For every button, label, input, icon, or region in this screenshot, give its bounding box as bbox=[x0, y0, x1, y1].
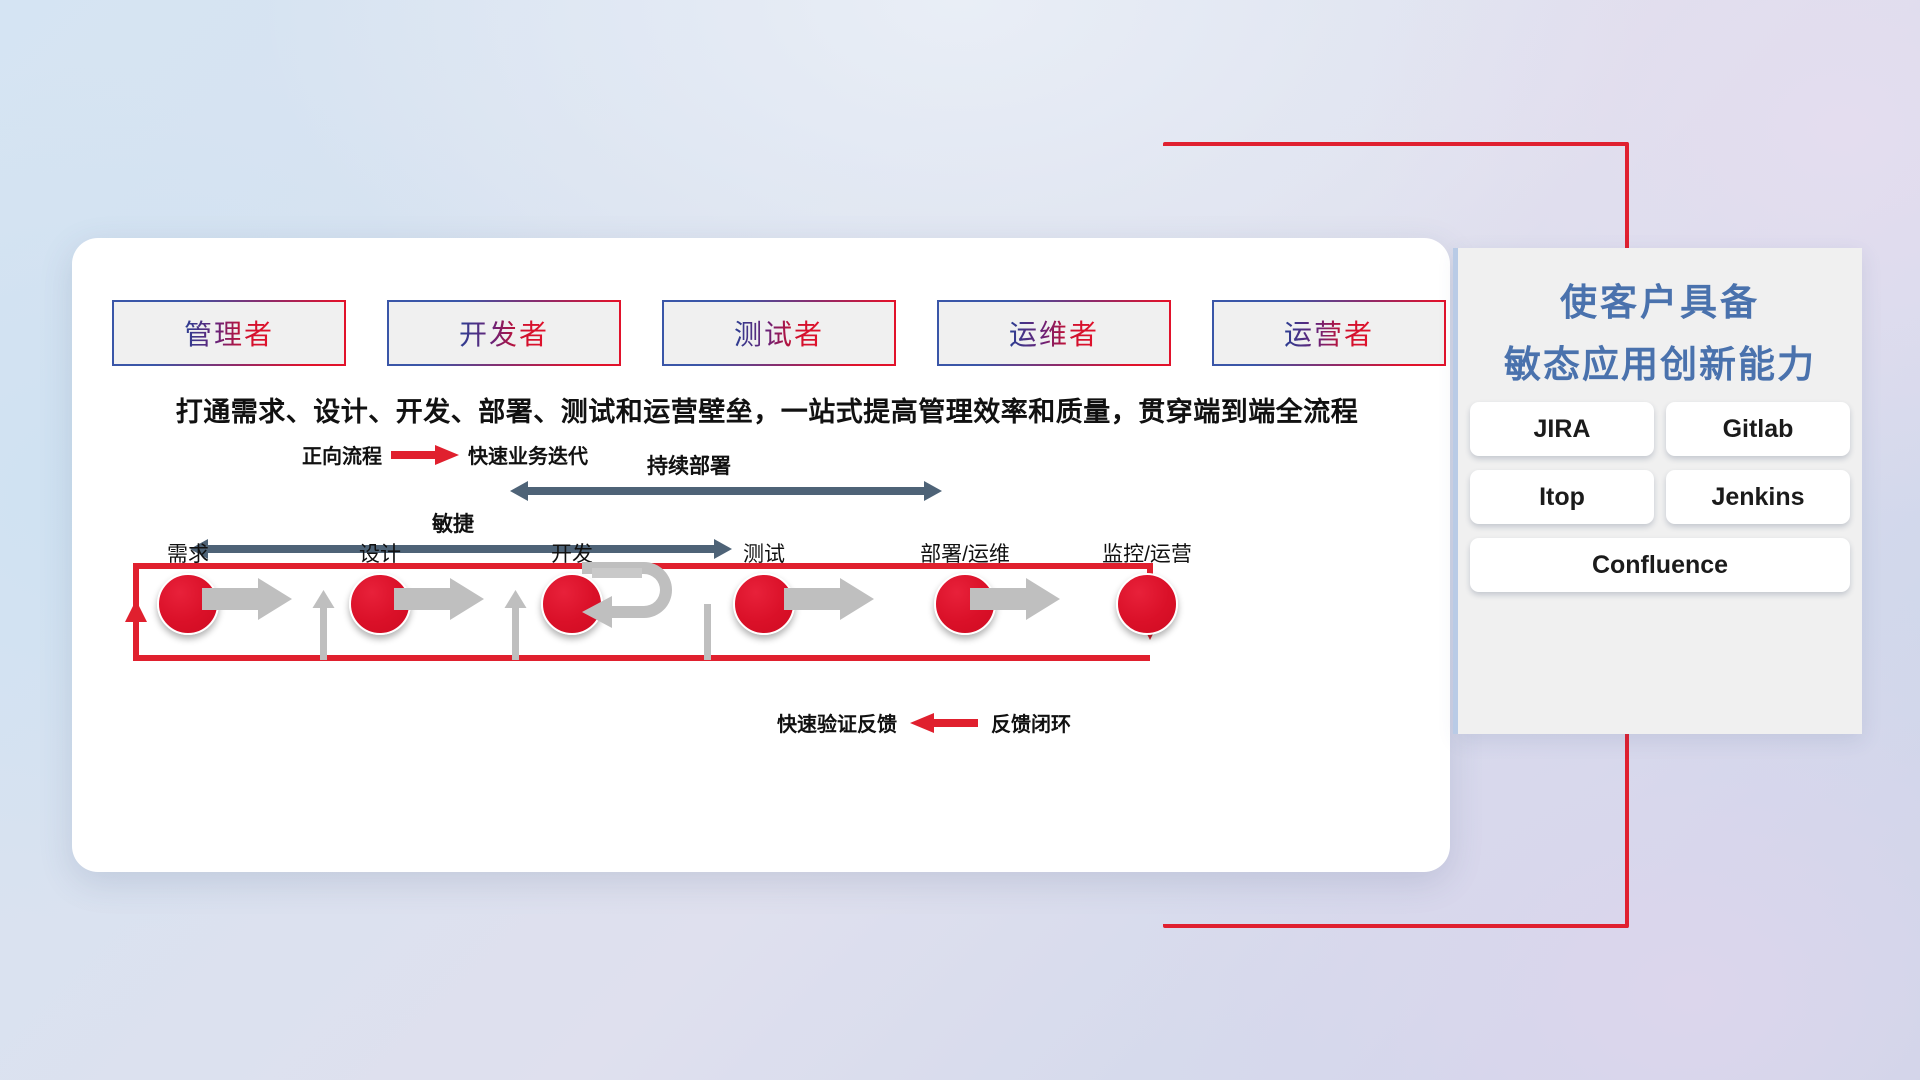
role-label: 运营者 bbox=[1284, 313, 1374, 353]
role-label: 管理者 bbox=[184, 313, 274, 353]
feedback-target-label: 快速验证反馈 bbox=[777, 708, 897, 737]
feedback-source-label: 反馈闭环 bbox=[991, 708, 1071, 737]
stage-label: 部署/运维 bbox=[890, 538, 1040, 568]
red-arrow-right-icon bbox=[391, 445, 459, 465]
tool-jira[interactable]: JIRA bbox=[1470, 402, 1654, 456]
role-box-operations-maintenance[interactable]: 运维者 bbox=[937, 300, 1171, 366]
feedback-loop-legend: 快速验证反馈 反馈闭环 bbox=[777, 708, 1071, 737]
role-box-row: 管理者 开发者 测试者 运维者 运营者 bbox=[112, 300, 1446, 366]
step-arrow-icon bbox=[202, 578, 292, 620]
role-box-business-operations[interactable]: 运营者 bbox=[1212, 300, 1446, 366]
forward-flow-legend: 正向流程 快速业务迭代 bbox=[302, 440, 588, 469]
tool-gitlab[interactable]: Gitlab bbox=[1666, 402, 1850, 456]
role-box-developer[interactable]: 开发者 bbox=[387, 300, 621, 366]
panel-heading-line2: 敏态应用创新能力 bbox=[1458, 334, 1862, 388]
red-arrow-left-icon bbox=[910, 713, 978, 733]
role-box-tester[interactable]: 测试者 bbox=[662, 300, 896, 366]
tool-label: Confluence bbox=[1592, 551, 1728, 580]
value-proposition-panel: 使客户具备 敏态应用创新能力 JIRA Gitlab Itop Jenkins … bbox=[1458, 248, 1862, 734]
tool-itop[interactable]: Itop bbox=[1470, 470, 1654, 524]
tool-label: Itop bbox=[1539, 483, 1585, 512]
stage-label: 需求 bbox=[128, 538, 248, 568]
step-arrow-icon bbox=[970, 578, 1060, 620]
role-box-manager[interactable]: 管理者 bbox=[112, 300, 346, 366]
tool-label: Jenkins bbox=[1711, 483, 1804, 512]
panel-heading-line1: 使客户具备 bbox=[1458, 272, 1862, 326]
iteration-loop-arrow-icon bbox=[582, 564, 687, 636]
role-label: 运维者 bbox=[1009, 313, 1099, 353]
tool-jenkins[interactable]: Jenkins bbox=[1666, 470, 1850, 524]
forward-flow-target-label: 快速业务迭代 bbox=[468, 440, 588, 469]
tool-label: Gitlab bbox=[1723, 415, 1794, 444]
headline-text: 打通需求、设计、开发、部署、测试和运营壁垒，一站式提高管理效率和质量，贯穿端到端… bbox=[122, 390, 1412, 429]
stage-label: 设计 bbox=[320, 538, 440, 568]
forward-flow-source-label: 正向流程 bbox=[302, 440, 382, 469]
stage-monitor-operations[interactable]: 监控/运营 bbox=[1072, 538, 1222, 635]
step-arrow-icon bbox=[394, 578, 484, 620]
tool-confluence[interactable]: Confluence bbox=[1470, 538, 1850, 592]
role-label: 开发者 bbox=[459, 313, 549, 353]
continuous-deployment-arrow bbox=[492, 478, 942, 504]
stage-label: 测试 bbox=[704, 538, 824, 568]
main-card: 管理者 开发者 测试者 运维者 运营者 打通需求、设计、开发、部署、测试和运营壁… bbox=[72, 238, 1450, 872]
stage-label: 监控/运营 bbox=[1072, 538, 1222, 568]
tool-label: JIRA bbox=[1534, 415, 1591, 444]
role-label: 测试者 bbox=[734, 313, 824, 353]
continuous-deployment-label: 持续部署 bbox=[647, 450, 731, 480]
tool-list: JIRA Gitlab Itop Jenkins Confluence bbox=[1470, 402, 1850, 592]
step-arrow-icon bbox=[784, 578, 874, 620]
stage-dot bbox=[1116, 573, 1178, 635]
